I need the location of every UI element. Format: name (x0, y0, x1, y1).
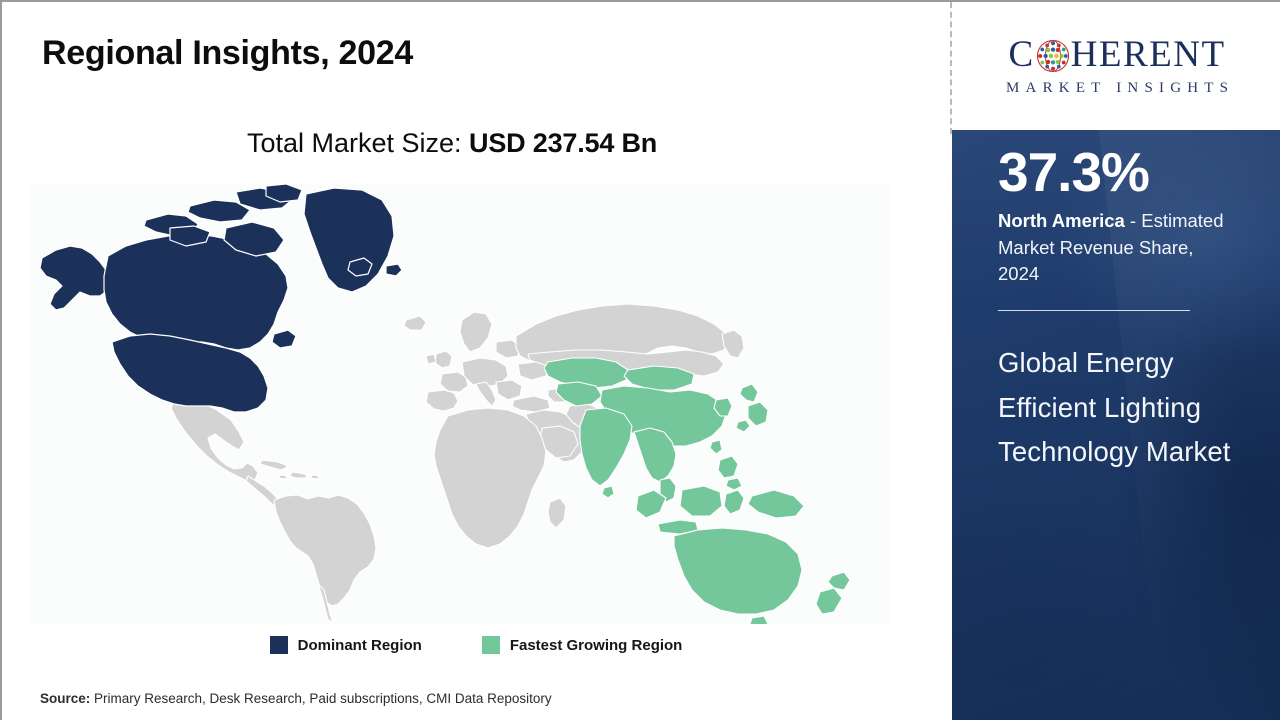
island-puerto-rico (311, 475, 319, 479)
legend-item-fastest-growing-region: Fastest Growing Region (482, 636, 683, 654)
region-uk-ireland (435, 351, 452, 368)
legend-label-fastest-growing: Fastest Growing Region (510, 637, 683, 654)
stat-card-content: 37.3% North America - Estimated Market R… (952, 130, 1280, 475)
legend-swatch-dominant (270, 636, 288, 654)
world-map (30, 184, 890, 624)
legend-item-dominant-region: Dominant Region (270, 636, 422, 654)
left-content-panel: Regional Insights, 2024 Total Market Siz… (2, 2, 950, 720)
map-legend: Dominant Region Fastest Growing Region (2, 636, 950, 654)
legend-swatch-fastest-growing (482, 636, 500, 654)
stat-percentage: 37.3% (998, 144, 1238, 202)
company-logo: C (952, 2, 1280, 130)
market-name: Global Energy Efficient Lighting Technol… (998, 341, 1238, 475)
coherent-globe-icon (1036, 39, 1070, 73)
source-text: Primary Research, Desk Research, Paid su… (90, 691, 551, 706)
logo-wordmark: C (1008, 36, 1225, 73)
source-line: Source: Primary Research, Desk Research,… (40, 691, 552, 706)
stat-card: 37.3% North America - Estimated Market R… (952, 130, 1280, 720)
logo-subtext: MARKET INSIGHTS (1000, 80, 1234, 97)
source-label: Source: (40, 691, 90, 706)
logo-word-rest: HERENT (1071, 36, 1226, 73)
page-title: Regional Insights, 2024 (42, 34, 413, 73)
stat-description: North America - Estimated Market Revenue… (998, 208, 1238, 288)
island-jamaica (279, 475, 287, 479)
island-borneo (680, 486, 722, 516)
total-market-size: Total Market Size: USD 237.54 Bn (2, 128, 902, 159)
infographic-page: Regional Insights, 2024 Total Market Siz… (0, 0, 1280, 720)
island-philippines (718, 456, 738, 478)
market-size-value: USD 237.54 Bn (469, 128, 657, 158)
market-size-label: Total Market Size: (247, 128, 462, 158)
island-ireland (426, 354, 436, 364)
stat-region-name: North America (998, 210, 1125, 231)
right-sidebar-panel: C (952, 2, 1280, 720)
world-map-container (30, 184, 890, 624)
stat-divider (998, 310, 1190, 311)
logo-letter-c: C (1008, 36, 1034, 73)
legend-label-dominant: Dominant Region (298, 637, 422, 654)
